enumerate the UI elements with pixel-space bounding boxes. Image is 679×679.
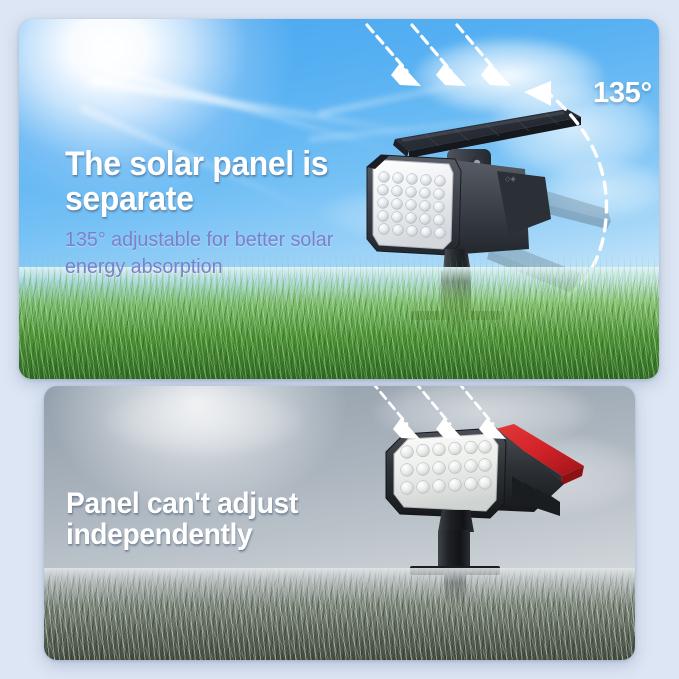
top-headline: The solar panel is separate	[65, 147, 328, 217]
bottom-headline: Panel can't adjust independently	[66, 489, 298, 551]
svg-text:◇◈: ◇◈	[505, 176, 516, 183]
bottom-comparison-card: Panel can't adjust independently	[44, 386, 635, 660]
grey-grass-foreground	[44, 568, 635, 660]
top-subheadline: 135° adjustable for better solar energy …	[65, 227, 333, 280]
top-comparison-card: ◇◈	[19, 19, 659, 379]
fixed-led-head	[386, 428, 506, 518]
led-head	[367, 155, 461, 255]
infographic-stage: ◇◈	[0, 0, 679, 679]
green-grass-foreground	[19, 267, 659, 379]
cloud-icon	[104, 386, 304, 456]
angle-label-135: 135°	[593, 77, 652, 110]
